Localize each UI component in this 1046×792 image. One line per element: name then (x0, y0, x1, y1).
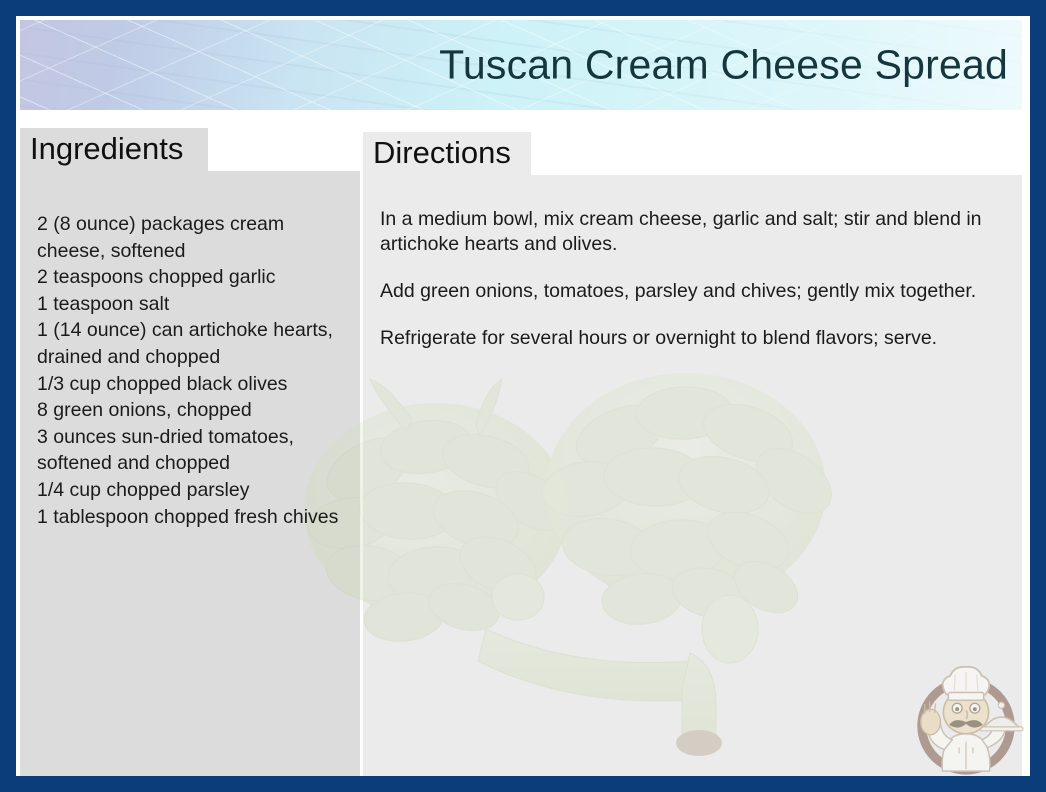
ingredients-list: 2 (8 ounce) packages cream cheese, softe… (37, 211, 352, 530)
ingredients-panel: 2 (8 ounce) packages cream cheese, softe… (20, 171, 360, 776)
list-item: 1 tablespoon chopped fresh chives (37, 504, 352, 531)
list-item: 1 (14 ounce) can artichoke hearts, drain… (37, 317, 352, 370)
list-item: 1/4 cup chopped parsley (37, 477, 352, 504)
page-title: Tuscan Cream Cheese Spread (439, 42, 1008, 89)
recipe-page: Tuscan Cream Cheese Spread 2 (8 ounce) p… (16, 16, 1030, 776)
list-item: 8 green onions, chopped (37, 397, 352, 424)
recipe-card: Tuscan Cream Cheese Spread 2 (8 ounce) p… (0, 0, 1046, 792)
list-item: 3 ounces sun-dried tomatoes, softened an… (37, 424, 352, 477)
tab-ingredients[interactable]: Ingredients (20, 128, 208, 172)
list-item: 2 teaspoons chopped garlic (37, 264, 352, 291)
tab-directions[interactable]: Directions (363, 132, 531, 176)
chef-mascot-logo-icon (907, 661, 1025, 776)
direction-step: Refrigerate for several hours or overnig… (380, 326, 1010, 351)
direction-step: Add green onions, tomatoes, parsley and … (380, 279, 1010, 304)
direction-step: In a medium bowl, mix cream cheese, garl… (380, 207, 1010, 257)
list-item: 1 teaspoon salt (37, 291, 352, 318)
list-item: 1/3 cup chopped black olives (37, 371, 352, 398)
list-item: 2 (8 ounce) packages cream cheese, softe… (37, 211, 352, 264)
directions-steps: In a medium bowl, mix cream cheese, garl… (380, 207, 1010, 351)
title-banner: Tuscan Cream Cheese Spread (20, 20, 1022, 110)
